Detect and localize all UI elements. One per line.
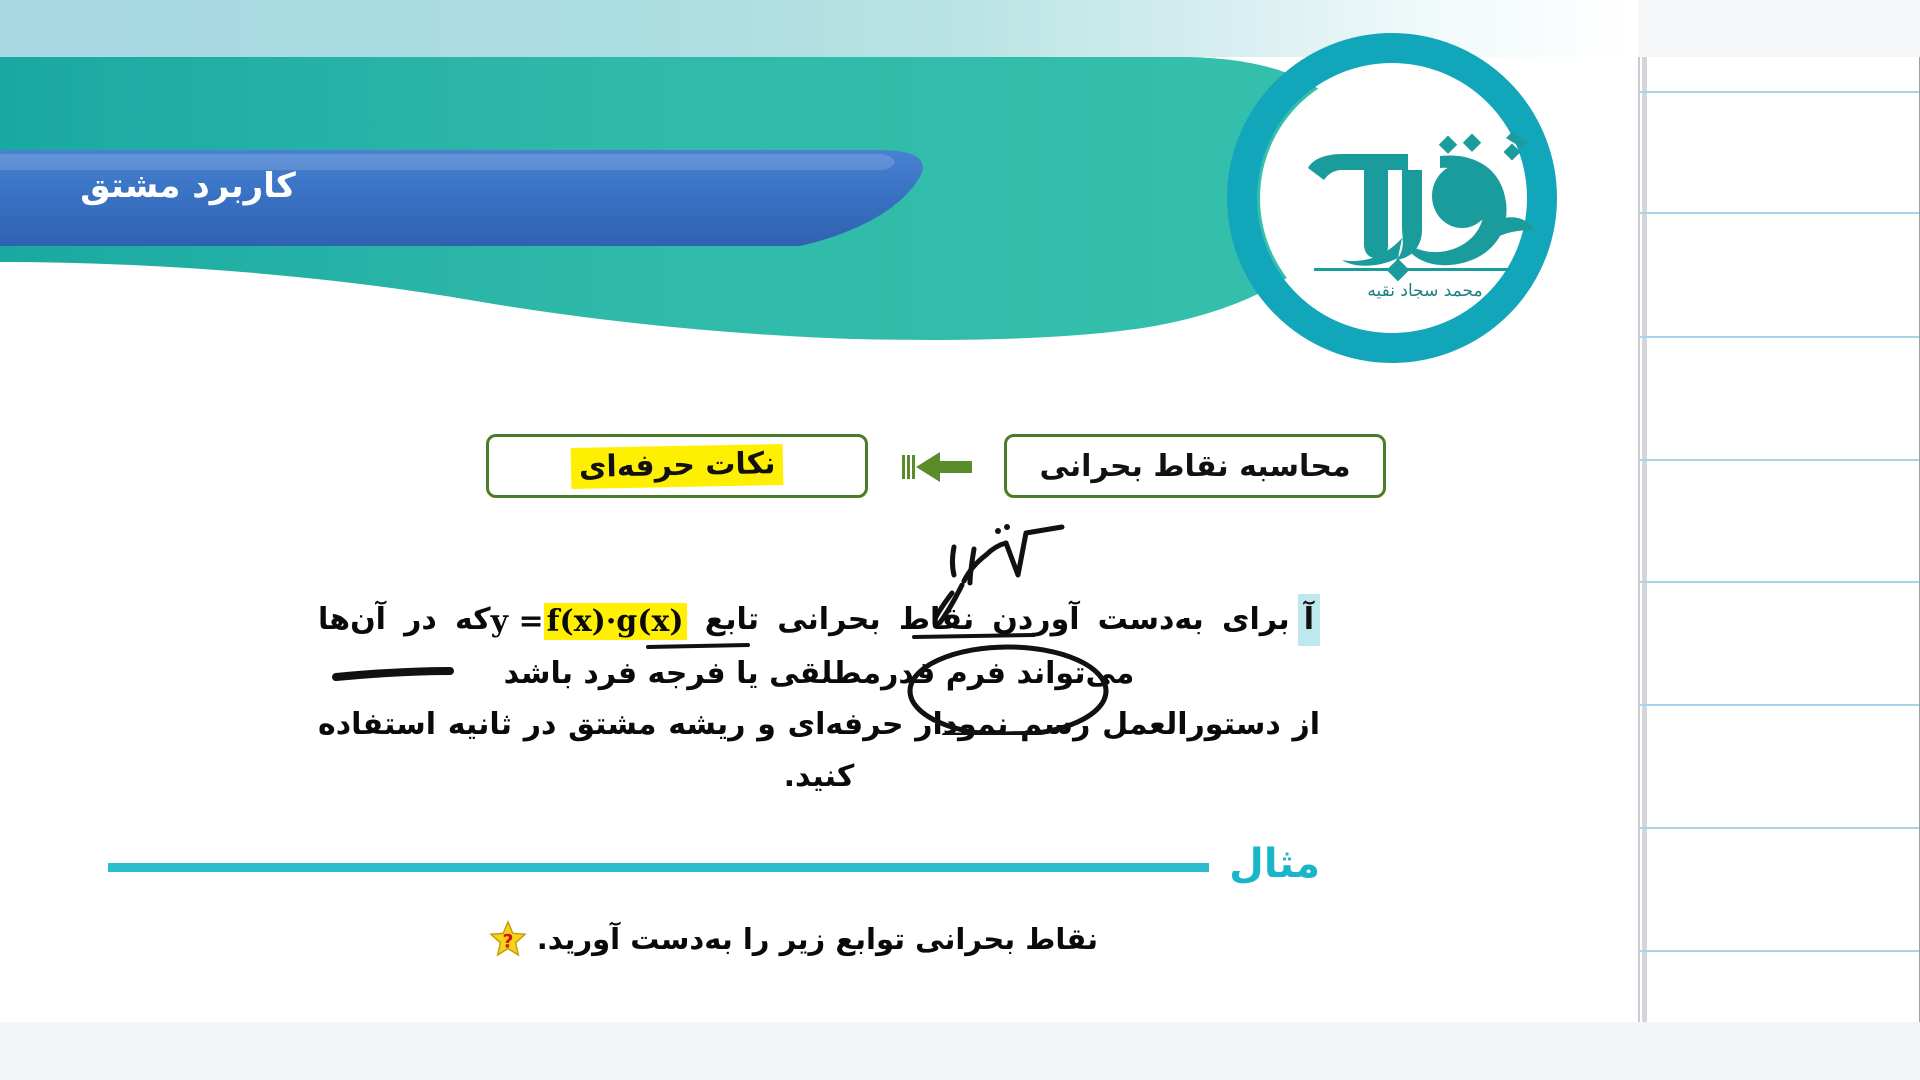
formula-rhs: f(x)·g(x) <box>544 603 687 640</box>
flow-diagram: محاسبه نقاط بحرانی نکات حرفه‌ای <box>0 434 1638 504</box>
brand-logo: محمد سجاد نقیه <box>1290 118 1560 308</box>
example-title: مثال <box>1229 841 1320 887</box>
svg-text:?: ? <box>502 931 513 953</box>
formula-lhs: y = <box>491 604 544 639</box>
star-question-icon: ? <box>489 920 527 958</box>
example-question-row: نقاط بحرانی توابع زیر را به‌دست آورید. ? <box>489 920 1098 958</box>
notebook-rule <box>1640 459 1920 461</box>
notebook-rule <box>1640 212 1920 214</box>
notebook-rule <box>1640 581 1920 583</box>
notebook-rule <box>1640 704 1920 706</box>
flow-box-source-label: محاسبه نقاط بحرانی <box>1040 449 1351 484</box>
paragraph-line1-a: برای به‌دست آوردن نقاط بحرانی تابع <box>705 602 1290 637</box>
flow-box-target[interactable]: نکات حرفه‌ای <box>486 434 868 498</box>
notebook-spine <box>1642 57 1647 1022</box>
notebook-rule <box>1640 827 1920 829</box>
notebook-rule <box>1640 950 1920 952</box>
flow-box-target-label: نکات حرفه‌ای <box>570 443 783 488</box>
left-arrow-icon <box>900 448 974 486</box>
slide-stage: کاربرد مشتق <box>0 0 1920 1080</box>
presentation-slide: کاربرد مشتق <box>0 0 1638 1022</box>
body-paragraph: آبرای به‌دست آوردن نقاط بحرانی تابع y =f… <box>318 594 1320 802</box>
inline-formula: y =f(x)·g(x) <box>491 596 687 648</box>
flow-box-source[interactable]: محاسبه نقاط بحرانی <box>1004 434 1386 498</box>
page-bottom-strip <box>0 1022 1920 1080</box>
banner-title-text: کاربرد مشتق <box>80 166 296 206</box>
paragraph-line2: از دستورالعمل رسم نمودار حرفه‌ای و ریشه … <box>318 707 1320 794</box>
logo-subtitle: محمد سجاد نقیه <box>1367 281 1482 301</box>
logo-art: محمد سجاد نقیه <box>1290 118 1560 308</box>
example-rule <box>108 863 1209 872</box>
notebook-rule <box>1640 91 1920 93</box>
notebook-rule <box>1640 336 1920 338</box>
notebook-panel[interactable] <box>1638 57 1920 1022</box>
example-question-text: نقاط بحرانی توابع زیر را به‌دست آورید. <box>537 922 1098 956</box>
banner-title: کاربرد مشتق <box>18 166 358 206</box>
example-heading: مثال <box>108 836 1320 892</box>
paragraph-marker: آ <box>1298 594 1320 646</box>
top-gradient-band <box>0 0 1638 57</box>
